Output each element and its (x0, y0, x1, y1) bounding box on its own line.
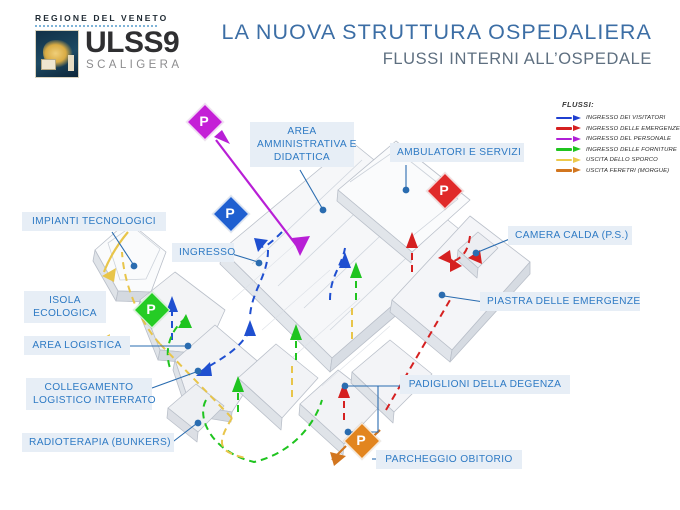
parking-letter: P (135, 293, 167, 325)
building-impianti (93, 221, 166, 302)
leader-amministrativa (300, 170, 322, 208)
legend-swatch-icon (556, 166, 582, 176)
parking-letter: P (188, 105, 220, 137)
label-area-logistica: AREA LOGISTICA (24, 336, 130, 355)
building-camera-calda (457, 232, 498, 278)
label-impianti-tecnologici: IMPIANTI TECNOLOGICI (22, 212, 166, 231)
legend-item-label: INGRESSO DEL PERSONALE (586, 136, 671, 142)
label-area-amministrativa: AREA AMMINISTRATIVA E DIDATTICA (250, 122, 354, 167)
legend-item-1: INGRESSO DELLE EMERGENZE (556, 124, 680, 135)
legend-title: FLUSSI: (562, 100, 680, 109)
legend-item-5: USCITA FERETRI (MORGUE) (556, 166, 680, 177)
page-title: LA NUOVA STRUTTURA OSPEDALIERA (0, 20, 652, 45)
legend-item-2: INGRESSO DEL PERSONALE (556, 134, 680, 145)
legend: FLUSSI: INGRESSO DEI VISITATORIINGRESSO … (556, 100, 680, 176)
parking-letter: P (214, 197, 246, 229)
legend-item-label: USCITA FERETRI (MORGUE) (586, 168, 669, 174)
label-camera-calda: CAMERA CALDA (P.S.) (508, 226, 632, 245)
leader-dots (131, 187, 480, 436)
poster-root: REGIONE DEL VENETO ULSS9 SCALIGERA LA NU… (0, 0, 680, 510)
building-collegamento (173, 325, 262, 422)
flow-sporco-solid (104, 232, 128, 272)
flow-feretri-heads (330, 452, 346, 466)
legend-item-0: INGRESSO DEI VISITATORI (556, 113, 680, 124)
label-parcheggio-obitorio: PARCHEGGIO OBITORIO (376, 450, 522, 469)
parking-forniture[interactable]: P (135, 293, 167, 325)
legend-swatch-icon (556, 113, 582, 123)
label-ingresso: INGRESSO (172, 243, 234, 262)
legend-swatch-icon (556, 134, 582, 144)
flow-forniture (168, 266, 356, 462)
flow-forniture-heads (178, 262, 362, 392)
legend-item-label: USCITA DELLO SPORCO (586, 157, 658, 163)
parking-visitatori[interactable]: P (214, 197, 246, 229)
legend-item-label: INGRESSO DELLE FORNITURE (586, 147, 677, 153)
label-isola-ecologica: ISOLA ECOLOGICA (24, 291, 106, 323)
legend-item-label: INGRESSO DEI VISITATORI (586, 115, 665, 121)
label-padiglioni-degenza: PADIGLIONI DELLA DEGENZA (400, 375, 570, 394)
parking-personale[interactable]: P (188, 105, 220, 137)
parking-letter: P (428, 174, 460, 206)
leader-impianti (112, 232, 133, 264)
legend-swatch-icon (556, 124, 582, 134)
label-ambulatori-servizi: AMBULATORI E SERVIZI (390, 143, 524, 162)
legend-swatch-icon (556, 145, 582, 155)
label-collegamento-logistico: COLLEGAMENTO LOGISTICO INTERRATO (26, 378, 152, 410)
page-subtitle: FLUSSI INTERNI ALL’OSPEDALE (0, 50, 652, 69)
leader-piastra (444, 296, 484, 302)
parking-emergenze[interactable]: P (428, 174, 460, 206)
legend-item-4: USCITA DELLO SPORCO (556, 155, 680, 166)
legend-item-label: INGRESSO DELLE EMERGENZE (586, 126, 680, 132)
leader-cameracalda (478, 238, 512, 252)
leader-ingresso (232, 254, 258, 262)
leader-lines (112, 165, 512, 459)
label-piastra-emergenze: PIASTRA DELLE EMERGENZE (480, 292, 640, 311)
flow-sporco (122, 252, 352, 458)
building-padiglioni (237, 340, 432, 455)
parking-letter: P (345, 424, 377, 456)
legend-swatch-icon (556, 155, 582, 165)
label-radioterapia-bunkers: RADIOTERAPIA (BUNKERS) (22, 433, 174, 452)
parking-obitorio[interactable]: P (345, 424, 377, 456)
leader-collegamento (152, 372, 196, 388)
flow-emergenze-heads (338, 232, 482, 398)
legend-item-3: INGRESSO DELLE FORNITURE (556, 145, 680, 156)
building-radioterapia (167, 384, 224, 442)
